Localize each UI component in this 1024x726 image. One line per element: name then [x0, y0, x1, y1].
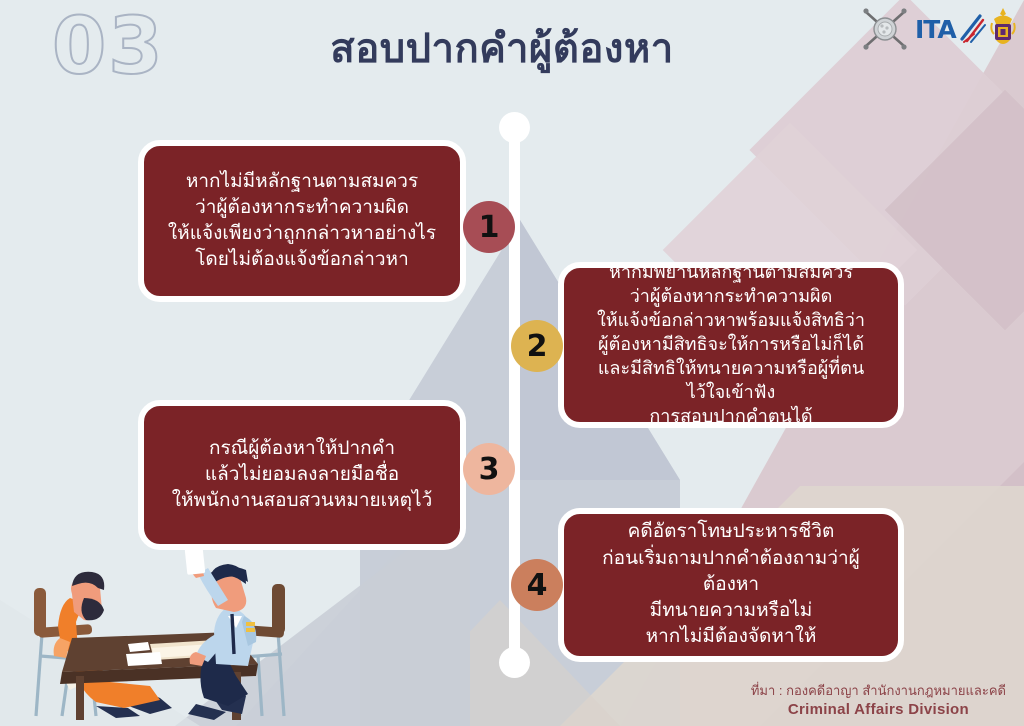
timeline-dot-bottom: [499, 647, 530, 678]
royal-crown-emblem-icon: [990, 7, 1016, 51]
footer-source: ที่มา : กองคดีอาญา สำนักงานกฎหมายและคดี: [751, 682, 1006, 700]
ita-logo-icon: ITA: [914, 12, 986, 46]
timeline-card-3-text: กรณีผู้ต้องหาให้ปากคำ แล้วไม่ยอมลงลายมือ…: [172, 436, 433, 515]
timeline-card-4-text: คดีอัตราโทษประหารชีวิต ก่อนเริ่มถามปากคำ…: [580, 519, 882, 650]
timeline-card-4[interactable]: คดีอัตราโทษประหารชีวิต ก่อนเริ่มถามปากคำ…: [558, 508, 904, 662]
logo-strip: ITA: [860, 6, 1016, 52]
timeline-card-1-text: หากไม่มีหลักฐานตามสมควร ว่าผู้ต้องหากระท…: [168, 169, 436, 274]
mace-emblem-icon: [860, 7, 910, 51]
timeline-dot-top: [499, 112, 530, 143]
step-badge-2[interactable]: 2: [511, 320, 563, 372]
slide-root: 03 สอบปากคำผู้ต้องหา ITA: [0, 0, 1024, 726]
step-badge-3[interactable]: 3: [463, 443, 515, 495]
timeline-card-1[interactable]: หากไม่มีหลักฐานตามสมควร ว่าผู้ต้องหากระท…: [138, 140, 466, 302]
step-badge-4[interactable]: 4: [511, 559, 563, 611]
footer-credit: ที่มา : กองคดีอาญา สำนักงานกฎหมายและคดี …: [751, 682, 1006, 720]
interrogation-scene-illustration: [0, 526, 300, 726]
timeline-card-2-text: หากมีพยานหลักฐานตามสมควร ว่าผู้ต้องหากระ…: [580, 261, 882, 429]
svg-text:ITA: ITA: [915, 15, 957, 44]
timeline-card-2[interactable]: หากมีพยานหลักฐานตามสมควร ว่าผู้ต้องหากระ…: [558, 262, 904, 428]
footer-department: Criminal Affairs Division: [751, 700, 1006, 720]
step-badge-1[interactable]: 1: [463, 201, 515, 253]
